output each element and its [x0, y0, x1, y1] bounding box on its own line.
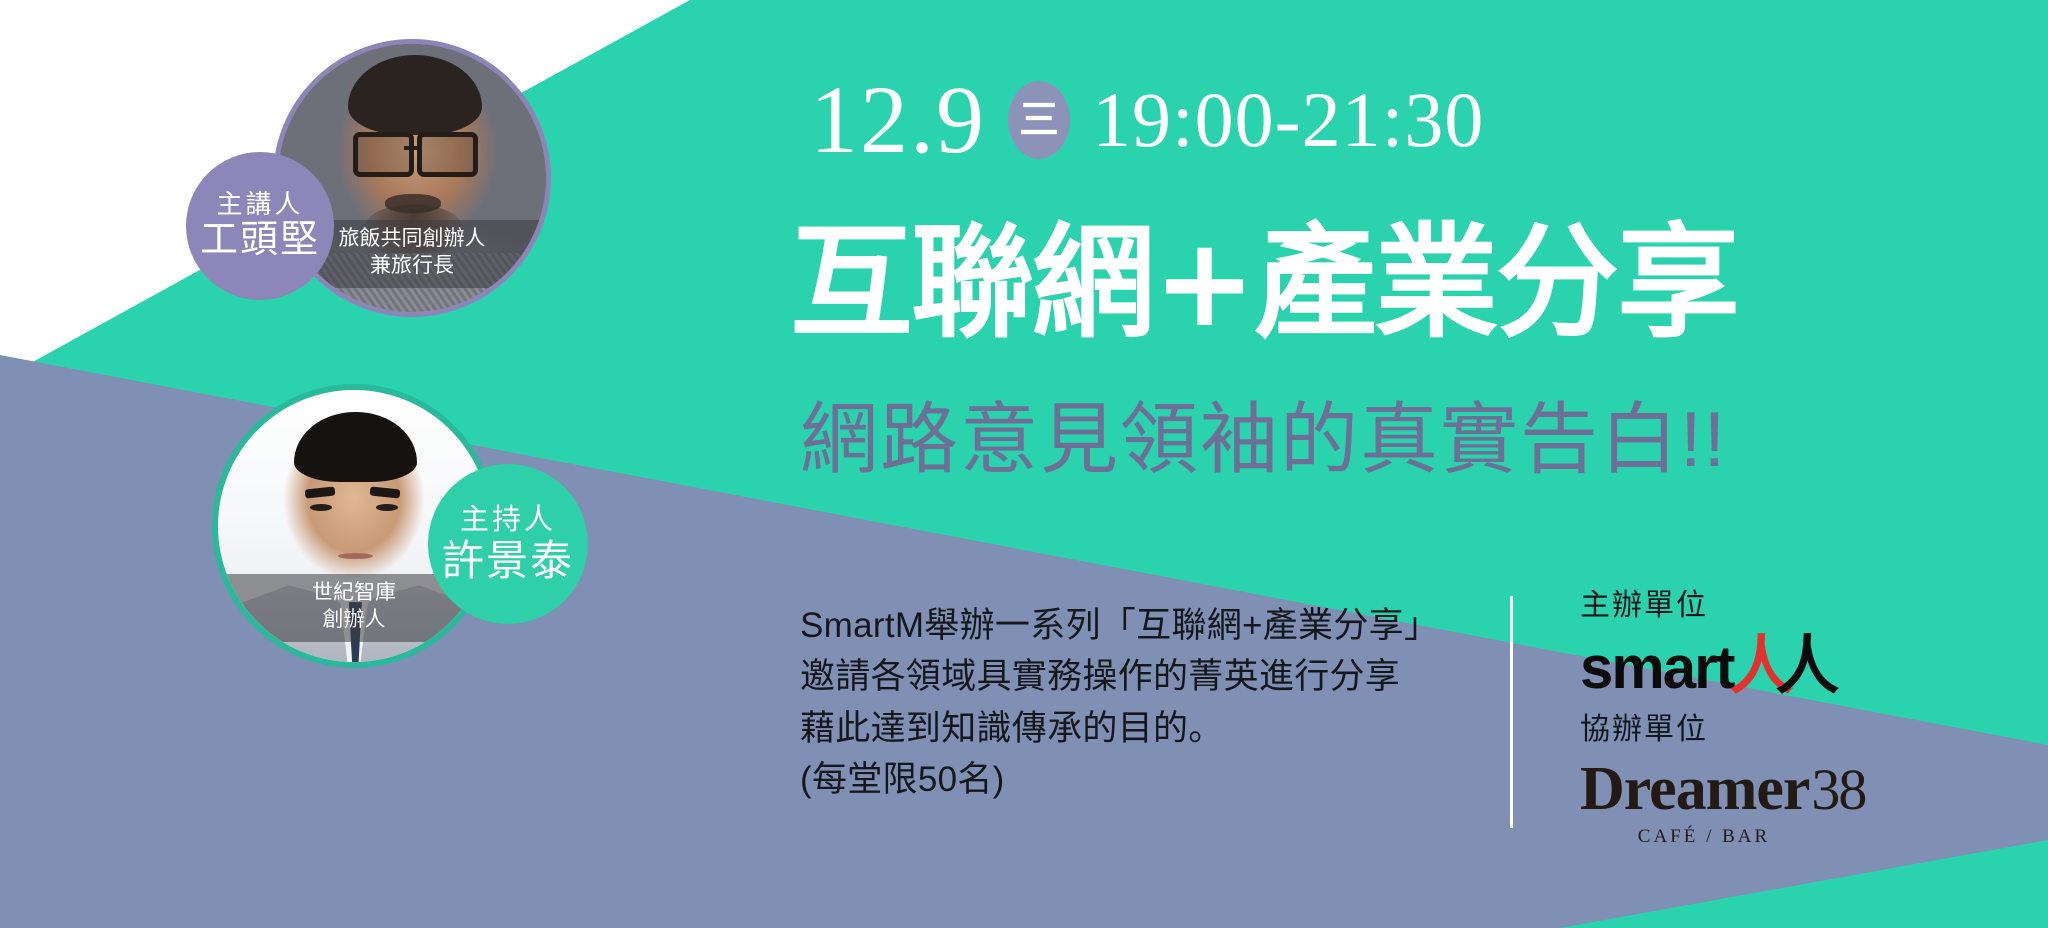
- smartm-person-marks: 人 人: [1729, 636, 1847, 698]
- description-line-1: SmartM舉辦一系列「互聯網+產業分享」: [800, 600, 1439, 651]
- description-line-4: (每堂限50名): [800, 754, 1439, 805]
- speaker-badge-host: 主持人 許景泰: [428, 464, 588, 624]
- dreamer38-wordmark-row: Dreamer 38: [1580, 758, 1880, 820]
- smartm-wordmark: smart: [1580, 638, 1733, 698]
- portrait-glasses-bridge: [404, 146, 420, 150]
- dreamer-tagline: CAFÉ / BAR: [1580, 826, 1828, 848]
- event-date: 12.9: [810, 72, 986, 168]
- portrait-hair-host: [294, 412, 416, 483]
- event-time: 19:00-21:30: [1092, 81, 1484, 159]
- dreamer-number: 38: [1811, 761, 1865, 819]
- host-organizer-label: 主辦單位: [1580, 588, 1880, 624]
- portrait-hair: [348, 55, 482, 135]
- portrait-glasses-right: [417, 132, 478, 177]
- event-date-row: 12.9 三 19:00-21:30: [810, 72, 1484, 168]
- speaker-caption-host-line2: 創辦人: [218, 607, 490, 634]
- organizers-section: 主辦單位 smart 人 人 協辦單位 Dreamer 38 CAFÉ / BA…: [1580, 588, 1880, 848]
- dreamer38-logo: Dreamer 38 CAFÉ / BAR: [1580, 758, 1880, 848]
- speaker-name-host: 許景泰: [442, 539, 574, 583]
- vertical-divider: [1510, 596, 1513, 828]
- event-title: 互聯網+產業分享: [790, 222, 1738, 345]
- dreamer-wordmark: Dreamer: [1580, 758, 1809, 820]
- speaker-name-primary: 工頭堅: [200, 221, 320, 261]
- portrait-mouth: [338, 553, 373, 559]
- speaker-photo-primary: 旅飯共同創辦人 兼旅行長: [278, 44, 546, 312]
- event-subtitle: 網路意見領袖的真實告白!!: [800, 400, 1727, 478]
- weekday-label: 三: [1019, 100, 1059, 140]
- description-line-3: 藉此達到知識傳承的目的。: [800, 703, 1439, 754]
- portrait-eye-left: [310, 504, 332, 511]
- weekday-badge: 三: [1008, 81, 1070, 159]
- description-line-2: 邀請各領域具實務操作的菁英進行分享: [800, 651, 1439, 702]
- event-banner: 旅飯共同創辦人 兼旅行長 主講人 工頭堅 世紀智庫: [0, 0, 2048, 928]
- co-organizer-label: 協辦單位: [1580, 712, 1880, 748]
- speaker-badge-primary: 主講人 工頭堅: [186, 152, 334, 300]
- event-description: SmartM舉辦一系列「互聯網+產業分享」 邀請各領域具實務操作的菁英進行分享 …: [800, 600, 1439, 806]
- portrait-brow-left: [305, 486, 336, 498]
- person-glyph-black-icon: 人: [1775, 634, 1839, 698]
- portrait-brow-right: [370, 486, 401, 498]
- portrait-moustache: [385, 194, 441, 213]
- speaker-role-primary: 主講人: [216, 191, 303, 218]
- portrait-eye-right: [376, 504, 398, 511]
- smartm-logo: smart 人 人: [1580, 630, 1880, 698]
- portrait-glasses-left: [353, 132, 414, 177]
- speaker-role-host: 主持人: [460, 505, 556, 535]
